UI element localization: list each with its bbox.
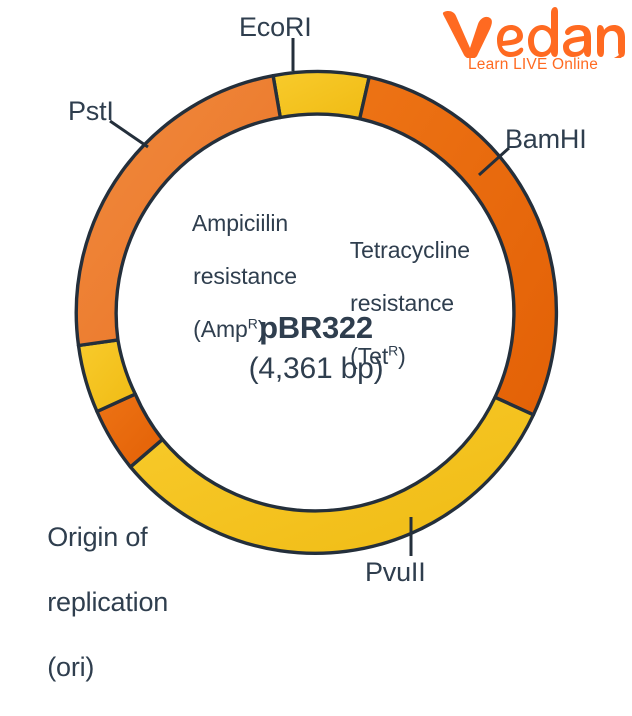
ori-line-1: Origin of xyxy=(47,522,147,552)
amp-line-1: Ampiciilin xyxy=(192,210,288,236)
amp-line-2: resistance xyxy=(193,263,297,289)
callout-label-ecori: EcoRI xyxy=(239,12,312,43)
callout-label-origin-of-replication: Origin of replication (ori) xyxy=(18,489,168,716)
plasmid-name: pBR322 xyxy=(0,310,632,346)
leader-line-pstl xyxy=(110,121,148,147)
plasmid-map-figure: Ampiciilin resistance (AmpR) Tetracyclin… xyxy=(0,0,632,625)
callout-label-pstl: PstI xyxy=(68,96,114,127)
plasmid-size: (4,361 bp) xyxy=(0,352,632,387)
tet-line-1: Tetracycline xyxy=(350,237,470,263)
ori-line-3: (ori) xyxy=(47,652,94,682)
vedantu-logo: Learn LIVE Online xyxy=(440,6,626,80)
vedantu-tagline: Learn LIVE Online xyxy=(440,56,626,74)
segment-yellow-lower-right xyxy=(130,397,533,553)
segment-ecori-site xyxy=(273,72,369,119)
vedantu-wordmark-icon xyxy=(440,6,626,58)
callout-label-bamhi: BamHI xyxy=(505,124,587,155)
ori-line-2: replication xyxy=(47,587,168,617)
callout-label-pvuii: PvuII xyxy=(365,557,426,588)
